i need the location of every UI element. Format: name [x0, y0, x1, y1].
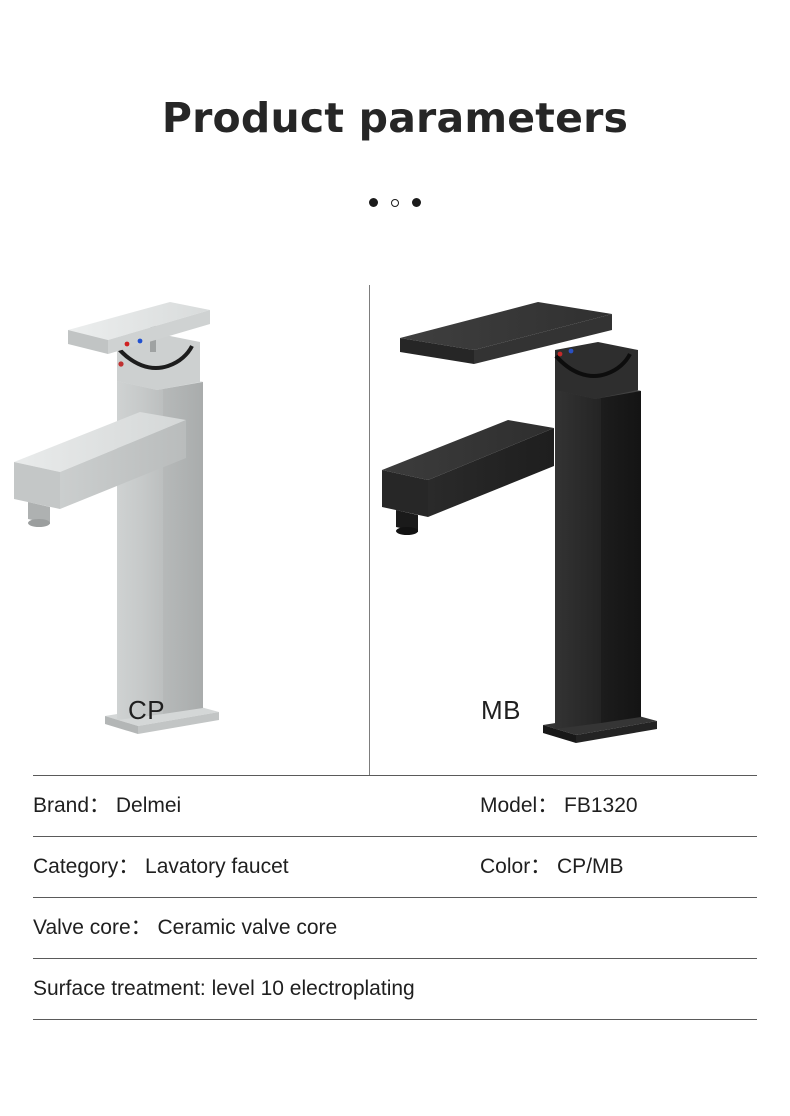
faucet-aerator-tip-cp [28, 519, 50, 527]
spec-cell-surface-treatment: Surface treatment: level 10 electroplati… [33, 976, 415, 1001]
spec-row-surface-treatment: Surface treatment: level 10 electroplati… [33, 959, 757, 1019]
product-label-mb: MB [481, 695, 521, 726]
spec-row-category-color: Category： Lavatory faucet Color： CP/MB [33, 837, 757, 897]
product-panel-mb[interactable]: MB [370, 262, 790, 775]
faucet-cartridge-mb [555, 342, 638, 399]
carousel-dot-1-icon[interactable] [369, 198, 378, 207]
page-title: Product parameters [0, 96, 790, 141]
faucet-column-front-mb [555, 383, 601, 729]
carousel-dot-2-icon[interactable] [391, 199, 399, 207]
spec-cell-color: Color： CP/MB [480, 854, 624, 879]
product-gallery: CP [0, 262, 790, 775]
faucet-image-cp [0, 262, 369, 775]
spec-cell-model: Model： FB1320 [480, 793, 638, 818]
faucet-column-side-mb [601, 383, 641, 723]
cold-indicator-cp [138, 339, 143, 344]
product-label-cp: CP [128, 695, 165, 726]
spec-rule-bottom [33, 1019, 757, 1020]
hot-indicator-mb [558, 352, 563, 357]
spec-table: Brand： Delmei Model： FB1320 Category： La… [33, 775, 757, 1020]
spec-row-brand-model: Brand： Delmei Model： FB1320 [33, 776, 757, 836]
spec-cell-brand: Brand： Delmei [33, 793, 181, 818]
carousel-dots [0, 198, 790, 207]
faucet-aerator-tip-mb [396, 527, 418, 535]
faucet-image-mb [370, 262, 790, 775]
carousel-dot-3-icon[interactable] [412, 198, 421, 207]
spec-row-valve-core: Valve core： Ceramic valve core [33, 898, 757, 958]
spec-cell-category: Category： Lavatory faucet [33, 854, 289, 879]
hot-indicator-2-cp [118, 361, 123, 366]
spec-cell-valve-core: Valve core： Ceramic valve core [33, 915, 337, 940]
product-panel-cp[interactable]: CP [0, 262, 369, 775]
cold-indicator-mb [569, 349, 574, 354]
hot-indicator-cp [125, 342, 130, 347]
